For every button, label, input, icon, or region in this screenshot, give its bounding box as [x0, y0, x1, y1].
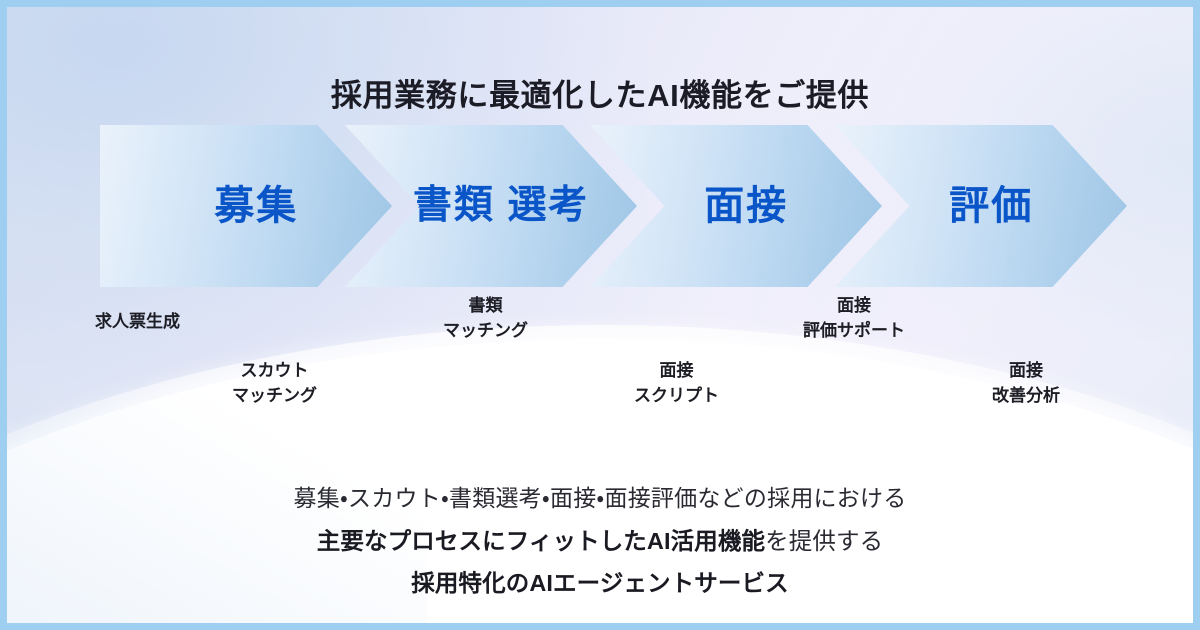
flow-step-label-2-line1: 書類 [413, 184, 495, 227]
feature-caption-scout-matching: スカウト マッチング [232, 359, 317, 409]
summary-line-2-soft: を提供する [765, 528, 883, 554]
feature-caption-0-line1: 求人票生成 [95, 310, 180, 335]
summary-line-2: 主要なプロセスにフィットしたAI活用機能を提供する [7, 520, 1193, 562]
flow-step-label-2-line2: 選考 [508, 184, 590, 227]
feature-caption-interview-improvement-analysis: 面接 改善分析 [992, 359, 1060, 409]
feature-caption-job-posting: 求人票生成 [95, 310, 180, 335]
feature-caption-3-line1: 面接 [634, 359, 719, 384]
feature-caption-interview-script: 面接 スクリプト [634, 359, 719, 409]
feature-caption-1-line2: マッチング [232, 384, 317, 409]
feature-caption-interview-evaluation-support: 面接 評価サポート [803, 294, 905, 344]
summary-line-1: 募集・スカウト・書類選考・面接・面接評価などの採用における [7, 477, 1193, 520]
flow-step-label-1: 募集 [100, 184, 392, 229]
feature-caption-1-line1: スカウト [232, 359, 317, 384]
flow-step-recruiting: 募集 [100, 125, 392, 287]
feature-caption-2-line1: 書類 [443, 294, 528, 319]
feature-caption-5-line1: 面接 [992, 359, 1060, 384]
feature-caption-document-matching: 書類 マッチング [443, 294, 528, 344]
summary-line-3: 採用特化のAIエージェントサービス [7, 562, 1193, 604]
infographic-canvas: 採用業務に最適化したAI機能をご提供 募集 書類 選考 面接 評価 求人票生成 … [0, 0, 1200, 630]
summary-copy: 募集・スカウト・書類選考・面接・面接評価などの採用における 主要なプロセスにフィ… [7, 477, 1193, 604]
summary-line-2-strong: 主要なプロセスにフィットしたAI活用機能 [317, 528, 765, 554]
feature-caption-2-line2: マッチング [443, 319, 528, 344]
feature-caption-3-line2: スクリプト [634, 384, 719, 409]
page-title: 採用業務に最適化したAI機能をご提供 [7, 70, 1193, 115]
process-flow: 募集 書類 選考 面接 評価 [7, 125, 1200, 287]
feature-caption-4-line1: 面接 [803, 294, 905, 319]
feature-caption-5-line2: 改善分析 [992, 384, 1060, 409]
feature-caption-4-line2: 評価サポート [803, 319, 905, 344]
